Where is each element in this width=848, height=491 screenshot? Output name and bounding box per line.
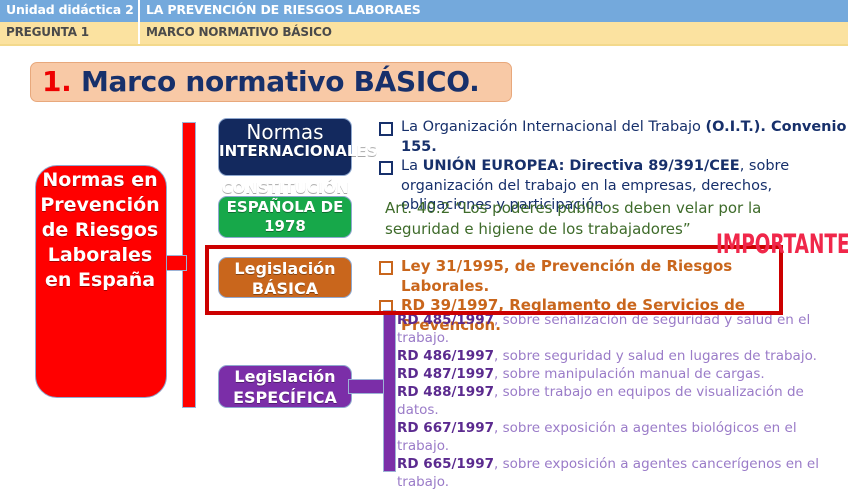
- list-item: La Organización Internacional del Trabaj…: [379, 118, 848, 157]
- header-question-title: MARCO NORMATIVO BÁSICO: [146, 25, 332, 39]
- list-item: RD 485/1997, sobre señalización de segur…: [397, 311, 848, 347]
- rd-code: RD 486/1997: [397, 348, 494, 364]
- slide-canvas: Unidad didáctica 2 LA PREVENCIÓN DE RIES…: [0, 0, 848, 477]
- category-especifica-line2: ESPECÍFICA: [219, 387, 351, 408]
- list-item: RD 487/1997, sobre manipulación manual d…: [397, 365, 848, 383]
- list-item-text: La Organización Internacional del Trabaj…: [401, 118, 848, 157]
- category-constitucion-label: CONSTITUCIÓN ESPAÑOLA DE 1978: [219, 179, 351, 236]
- rd-code: RD 487/1997: [397, 366, 494, 382]
- rd-description: , sobre manipulación manual de cargas.: [494, 366, 765, 382]
- root-node-label: Normas en Prevención de Riesgos Laborale…: [40, 168, 160, 293]
- rd-code: RD 667/1997: [397, 420, 494, 436]
- rd-code: RD 665/1997: [397, 456, 494, 472]
- header-unit-bar: Unidad didáctica 2 LA PREVENCIÓN DE RIES…: [0, 0, 848, 22]
- square-bullet-icon: [379, 122, 393, 136]
- category-internacional-line2: INTERNACIONALES: [219, 143, 351, 160]
- category-box-internacional: Normas INTERNACIONALES: [218, 118, 352, 176]
- category-box-especifica: Legislación ESPECÍFICA: [218, 365, 352, 408]
- header-rule: [0, 44, 848, 46]
- category-box-constitucion: CONSTITUCIÓN ESPAÑOLA DE 1978: [218, 196, 352, 238]
- highlight-rectangle: [205, 245, 783, 315]
- page-title: 1. Marco normativo BÁSICO.: [42, 65, 479, 98]
- category-especifica-line1: Legislación: [219, 366, 351, 387]
- slide-title-number: 1.: [42, 65, 72, 98]
- rd-description: , sobre seguridad y salud en lugares de …: [494, 348, 817, 364]
- header-question-bar: PREGUNTA 1 MARCO NORMATIVO BÁSICO: [0, 22, 848, 44]
- list-item: RD 488/1997, sobre trabajo en equipos de…: [397, 383, 848, 419]
- header-unit-title: LA PREVENCIÓN DE RIESGOS LABORAES: [146, 2, 421, 17]
- header-divider: [138, 0, 140, 22]
- especifica-item-list: RD 485/1997, sobre señalización de segur…: [397, 311, 848, 491]
- importante-annotation: IMPORTANTE: [716, 228, 848, 259]
- header-unit-label: Unidad didáctica 2: [6, 2, 136, 17]
- square-bullet-icon: [379, 161, 393, 175]
- category-internacional-line1: Normas: [219, 119, 351, 143]
- slide-title-text: Marco normativo BÁSICO.: [72, 65, 480, 98]
- purple-connector: [348, 379, 386, 394]
- header-divider-2: [138, 22, 140, 44]
- rd-code: RD 488/1997: [397, 384, 494, 400]
- list-item: RD 665/1997, sobre exposición a agentes …: [397, 455, 848, 491]
- list-item: RD 486/1997, sobre seguridad y salud en …: [397, 347, 848, 365]
- header-question-label: PREGUNTA 1: [6, 25, 89, 39]
- list-item: RD 667/1997, sobre exposición a agentes …: [397, 419, 848, 455]
